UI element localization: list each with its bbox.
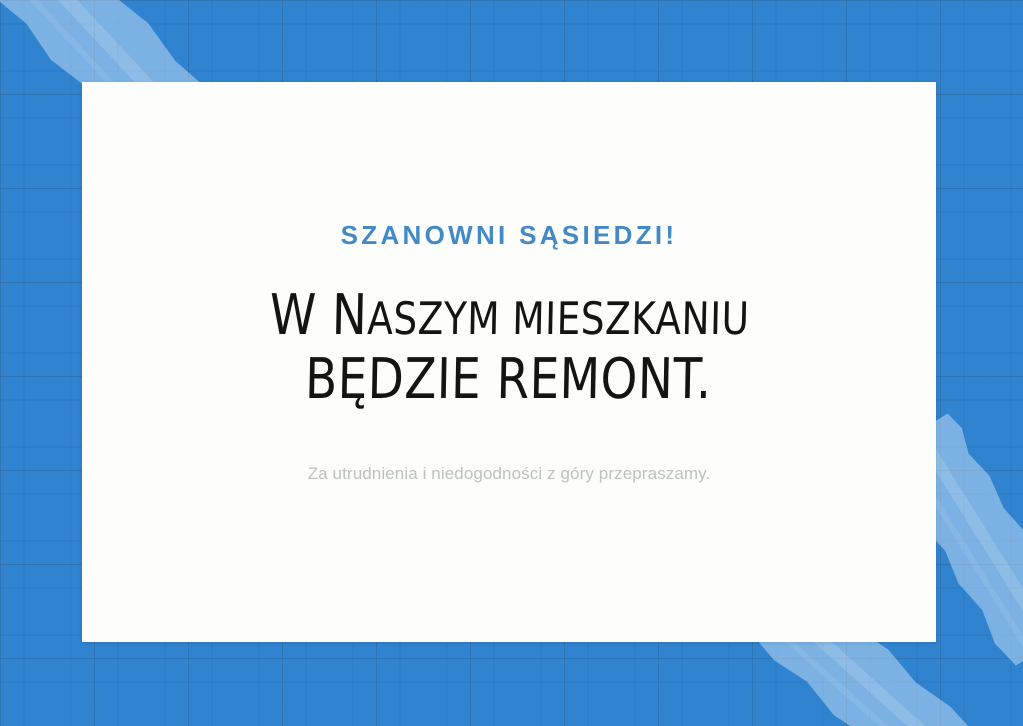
poster-canvas: SZANOWNI SĄSIEDZI! W NASZYM MIESZKANIU B… <box>0 0 1023 726</box>
headline-line-1: W NASZYM MIESZKANIU <box>269 284 750 348</box>
headline-line-1-part-b: ASZYM M <box>367 292 546 345</box>
headline-line-1-part-d: IU <box>710 292 750 345</box>
headline-line-2: BĘDZIE REMONT. <box>268 348 749 412</box>
headline-line-1-part-a: W N <box>269 283 368 348</box>
eyebrow-heading: SZANOWNI SĄSIEDZI! <box>341 222 678 248</box>
notice-card: SZANOWNI SĄSIEDZI! W NASZYM MIESZKANIU B… <box>82 82 936 642</box>
headline: W NASZYM MIESZKANIU BĘDZIE REMONT. <box>268 284 750 412</box>
headline-line-1-part-c: IESZKAN <box>545 292 711 345</box>
apology-subline: Za utrudnienia i niedogodności z góry pr… <box>308 464 711 484</box>
